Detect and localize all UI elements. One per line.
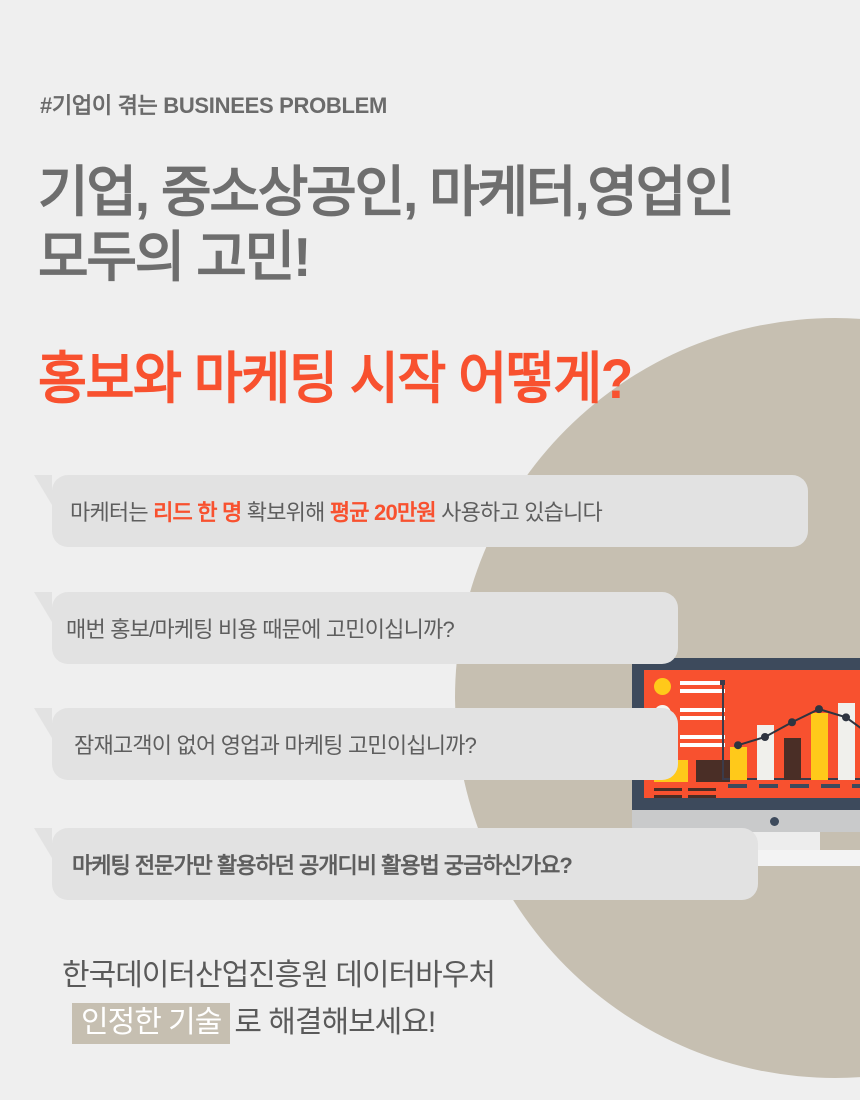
chart-line-marker [761, 733, 769, 741]
closing-line-2: 인정한 기술로 해결해보세요! [62, 1000, 495, 1047]
bubble-text: 잠재고객이 없어 영업과 마케팅 고민이십니까? [74, 728, 476, 760]
page-title: 기업, 중소상공인, 마케터,영업인 모두의 고민! [38, 160, 733, 291]
legend-lines-icon [680, 708, 725, 720]
bubble-text: 매번 홍보/마케팅 비용 때문에 고민이십니까? [66, 612, 454, 644]
eyebrow-label: #기업이 겪는 BUSINEES PROBLEM [40, 88, 387, 120]
chart-line-marker [842, 713, 850, 721]
bubble-text-segment: 마케터는 [70, 500, 153, 525]
bubble-text-segment: 확보위해 [241, 500, 329, 525]
chart-line-marker [788, 718, 796, 726]
closing-line-1: 한국데이터산업진흥원 데이터바우처 [62, 959, 495, 992]
headline-question: 홍보와 마케팅 시작 어떻게? [38, 348, 632, 410]
closing-message: 한국데이터산업진흥원 데이터바우처 인정한 기술로 해결해보세요! [62, 953, 495, 1046]
speech-bubble-cost-per-lead: 마케터는 리드 한 명 확보위해 평균 20만원 사용하고 있습니다 [52, 475, 808, 547]
bubble-tail-icon [34, 828, 52, 858]
bubble-text-highlight: 리드 한 명 [153, 500, 241, 525]
text-lines-column-1 [654, 788, 682, 798]
legend-lines-icon [680, 681, 725, 693]
infographic-canvas: #기업이 겪는 BUSINEES PROBLEM 기업, 중소상공인, 마케터,… [0, 0, 860, 1100]
speech-bubble-no-prospects: 잠재고객이 없어 영업과 마케팅 고민이십니까? [52, 708, 678, 780]
bubble-text-segment: 사용하고 있습니다 [436, 500, 602, 525]
chart-line-marker [815, 705, 823, 713]
speech-bubble-public-db: 마케팅 전문가만 활용하던 공개디비 활용법 궁금하신가요? [52, 828, 758, 900]
speech-bubble-marketing-cost: 매번 홍보/마케팅 비용 때문에 고민이십니까? [52, 592, 678, 664]
bubble-text: 마케터는 리드 한 명 확보위해 평균 20만원 사용하고 있습니다 [70, 495, 602, 527]
closing-line-2-suffix: 로 해결해보세요! [234, 1006, 435, 1039]
legend-lines-icon [680, 735, 725, 747]
bubble-tail-icon [34, 475, 52, 505]
chart-x-tick-marks [728, 784, 860, 788]
text-lines-column-2 [688, 788, 716, 798]
chart-trend-line [722, 678, 860, 783]
monitor-power-dot-icon [770, 817, 779, 826]
bubble-tail-icon [34, 708, 52, 738]
bubble-text-highlight: 평균 20만원 [330, 500, 436, 525]
legend-row-1 [654, 678, 725, 695]
bubble-text: 마케팅 전문가만 활용하던 공개디비 활용법 궁금하신가요? [72, 848, 572, 880]
legend-dot-icon [654, 678, 671, 695]
highlight-chip: 인정한 기술 [72, 1003, 230, 1044]
chart-line-marker [734, 741, 742, 749]
bubble-tail-icon [34, 592, 52, 622]
